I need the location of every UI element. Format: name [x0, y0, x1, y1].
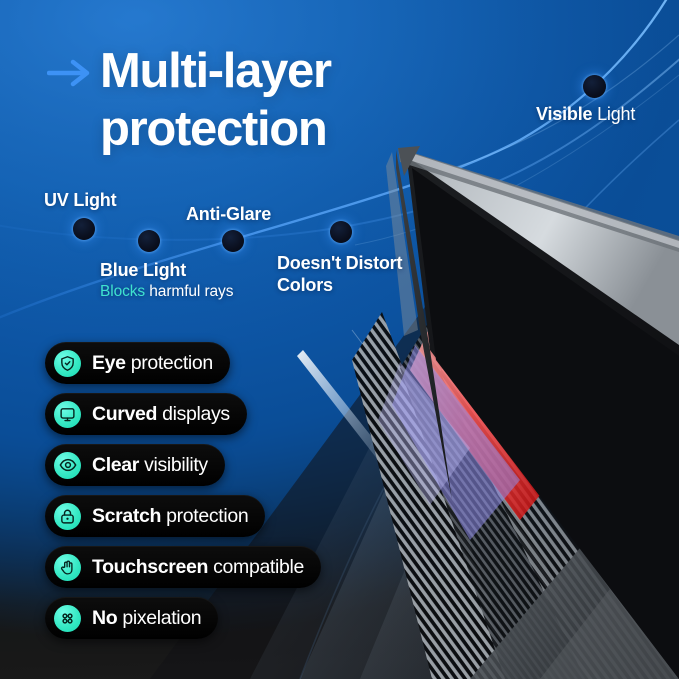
monitor-icon [54, 401, 81, 428]
arrow-right-icon [47, 59, 91, 87]
node-dot-doesnt-distort [330, 221, 352, 243]
feature-pill-no-pixelation[interactable]: No pixelation [45, 597, 218, 639]
feature-pill-touchscreen-compatible[interactable]: Touchscreen compatible [45, 546, 321, 588]
label-blue-light: Blue Light Blocks harmful rays [100, 260, 233, 301]
node-dot-uv-light [73, 218, 95, 240]
feature-rest-4: compatible [213, 556, 304, 578]
feature-rest-5: pixelation [122, 607, 201, 629]
label-anti-glare: Anti-Glare [186, 204, 271, 225]
lock-icon [54, 503, 81, 530]
feature-pill-label: Clear visibility [92, 454, 208, 477]
feature-pill-eye-protection[interactable]: Eye protection [45, 342, 230, 384]
eye-icon [54, 452, 81, 479]
feature-pill-label: Scratch protection [92, 505, 248, 528]
label-doesnt-distort-colors: Doesn't Distort Colors [277, 252, 402, 296]
feature-pill-label: No pixelation [92, 607, 201, 630]
label-uv-light-text: UV Light [44, 190, 116, 210]
promo-banner: Multi-layer protection UV Light Anti-Gla… [0, 0, 679, 679]
label-doesnt-distort-line2: Colors [277, 275, 333, 295]
label-blue-light-sub: Blocks harmful rays [100, 283, 233, 301]
feature-bold-5: No [92, 607, 117, 629]
label-uv-light: UV Light [44, 190, 116, 211]
feature-pill-label: Eye protection [92, 352, 213, 375]
label-visible-light-thin: Light [597, 104, 635, 124]
feature-rest-0: protection [131, 352, 213, 374]
label-blue-light-sub-accent: Blocks [100, 283, 145, 300]
feature-pill-scratch-protection[interactable]: Scratch protection [45, 495, 265, 537]
hand-touch-icon [54, 554, 81, 581]
feature-pill-label: Curved displays [92, 403, 230, 426]
feature-rest-1: displays [162, 403, 230, 425]
label-doesnt-distort-line1: Doesn't Distort [277, 253, 402, 273]
feature-bold-0: Eye [92, 352, 126, 374]
label-visible-light-bold: Visible [536, 104, 592, 124]
feature-bold-2: Clear [92, 454, 139, 476]
feature-rest-2: visibility [144, 454, 208, 476]
node-dot-blue-light [138, 230, 160, 252]
page-title: Multi-layer protection [100, 42, 500, 158]
label-blue-light-text: Blue Light [100, 260, 186, 280]
feature-pill-clear-visibility[interactable]: Clear visibility [45, 444, 225, 486]
feature-bold-3: Scratch [92, 505, 161, 527]
grid-dots-icon [54, 605, 81, 632]
feature-bold-4: Touchscreen [92, 556, 208, 578]
feature-bold-1: Curved [92, 403, 157, 425]
label-anti-glare-text: Anti-Glare [186, 204, 271, 224]
feature-rest-3: protection [166, 505, 248, 527]
label-blue-light-sub-rest: harmful rays [149, 283, 233, 300]
feature-pill-curved-displays[interactable]: Curved displays [45, 393, 247, 435]
node-dot-anti-glare [222, 230, 244, 252]
shield-check-icon [54, 350, 81, 377]
feature-pill-label: Touchscreen compatible [92, 556, 304, 579]
node-dot-visible-light [583, 75, 606, 98]
label-visible-light: Visible Light [536, 104, 635, 125]
